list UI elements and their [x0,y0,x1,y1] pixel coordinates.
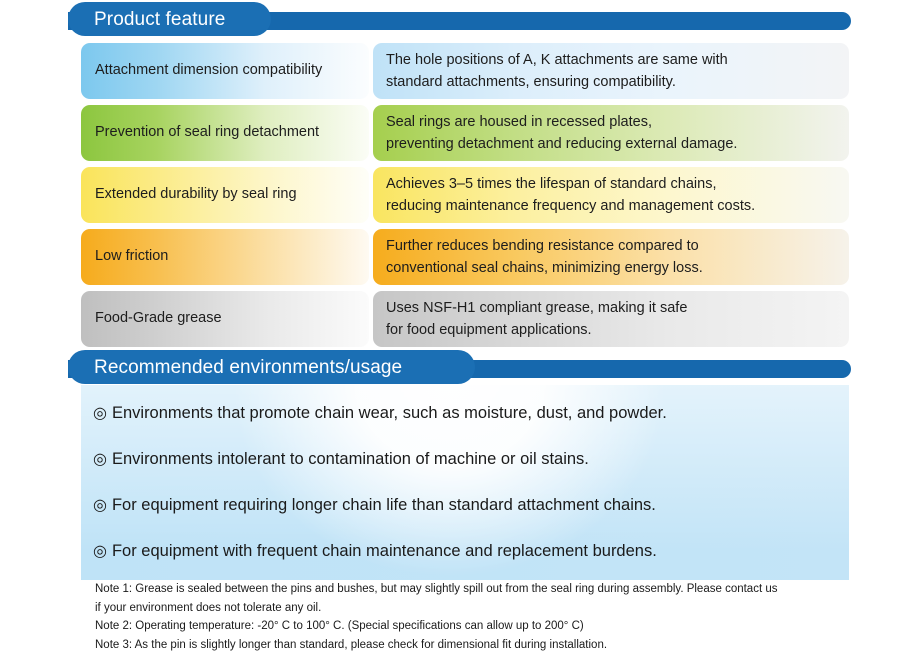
feature-description-cell: Achieves 3–5 times the lifespan of stand… [373,167,849,223]
banner-pill: Product feature [68,2,271,36]
feature-list: Attachment dimension compatibility The h… [81,43,849,353]
double-circle-bullet-icon: ◎ [93,495,107,515]
feature-label-cell: Attachment dimension compatibility [81,43,369,99]
feature-row: Food-Grade grease Uses NSF-H1 compliant … [81,291,849,347]
feature-label-cell: Food-Grade grease [81,291,369,347]
feature-description-cell: Uses NSF-H1 compliant grease, making it … [373,291,849,347]
feature-row: Extended durability by seal ring Achieve… [81,167,849,223]
product-feature-page: Product feature Attachment dimension com… [0,0,915,658]
double-circle-bullet-icon: ◎ [93,449,107,469]
feature-label-cell: Prevention of seal ring detachment [81,105,369,161]
feature-label-cell: Low friction [81,229,369,285]
feature-label-text: Extended durability by seal ring [95,187,297,203]
feature-description-line: conventional seal chains, minimizing ene… [386,257,849,279]
feature-row: Attachment dimension compatibility The h… [81,43,849,99]
feature-label-text: Attachment dimension compatibility [95,63,322,79]
feature-description-cell: Further reduces bending resistance compa… [373,229,849,285]
feature-description-cell: Seal rings are housed in recessed plates… [373,105,849,161]
feature-description-cell: The hole positions of A, K attachments a… [373,43,849,99]
note-1: Note 1: Grease is sealed between the pin… [95,580,785,617]
list-item-text: For equipment requiring longer chain lif… [112,496,656,515]
list-item: ◎ Environments that promote chain wear, … [93,403,849,449]
note-2: Note 2: Operating temperature: -20° C to… [95,617,855,636]
double-circle-bullet-icon: ◎ [93,541,107,561]
recommended-usage-panel: ◎ Environments that promote chain wear, … [81,385,849,580]
notes-block: Note 1: Grease is sealed between the pin… [95,580,855,655]
feature-description-line: standard attachments, ensuring compatibi… [386,71,849,93]
feature-description-line: The hole positions of A, K attachments a… [386,49,849,71]
list-item: ◎ For equipment with frequent chain main… [93,541,849,580]
feature-label-text: Food-Grade grease [95,311,222,327]
feature-label-cell: Extended durability by seal ring [81,167,369,223]
list-item-text: For equipment with frequent chain mainte… [112,542,657,561]
feature-description-line: Achieves 3–5 times the lifespan of stand… [386,173,849,195]
feature-row: Prevention of seal ring detachment Seal … [81,105,849,161]
feature-description-line: Further reduces bending resistance compa… [386,235,849,257]
section-title-product-feature: Product feature [94,10,225,29]
feature-row: Low friction Further reduces bending res… [81,229,849,285]
feature-label-text: Low friction [95,249,168,265]
list-item-text: Environments intolerant to contamination… [112,450,589,469]
double-circle-bullet-icon: ◎ [93,403,107,423]
recommended-usage-list: ◎ Environments that promote chain wear, … [81,385,849,580]
list-item-text: Environments that promote chain wear, su… [112,404,667,423]
feature-description-line: reducing maintenance frequency and manag… [386,195,849,217]
list-item: ◎ Environments intolerant to contaminati… [93,449,849,495]
list-item: ◎ For equipment requiring longer chain l… [93,495,849,541]
feature-description-line: Seal rings are housed in recessed plates… [386,111,849,133]
feature-label-text: Prevention of seal ring detachment [95,125,319,141]
feature-description-line: Uses NSF-H1 compliant grease, making it … [386,297,849,319]
feature-description-line: preventing detachment and reducing exter… [386,133,849,155]
section-title-recommended-environments: Recommended environments/usage [94,358,402,377]
note-3: Note 3: As the pin is slightly longer th… [95,636,855,655]
banner-pill: Recommended environments/usage [68,350,475,384]
feature-description-line: for food equipment applications. [386,319,849,341]
